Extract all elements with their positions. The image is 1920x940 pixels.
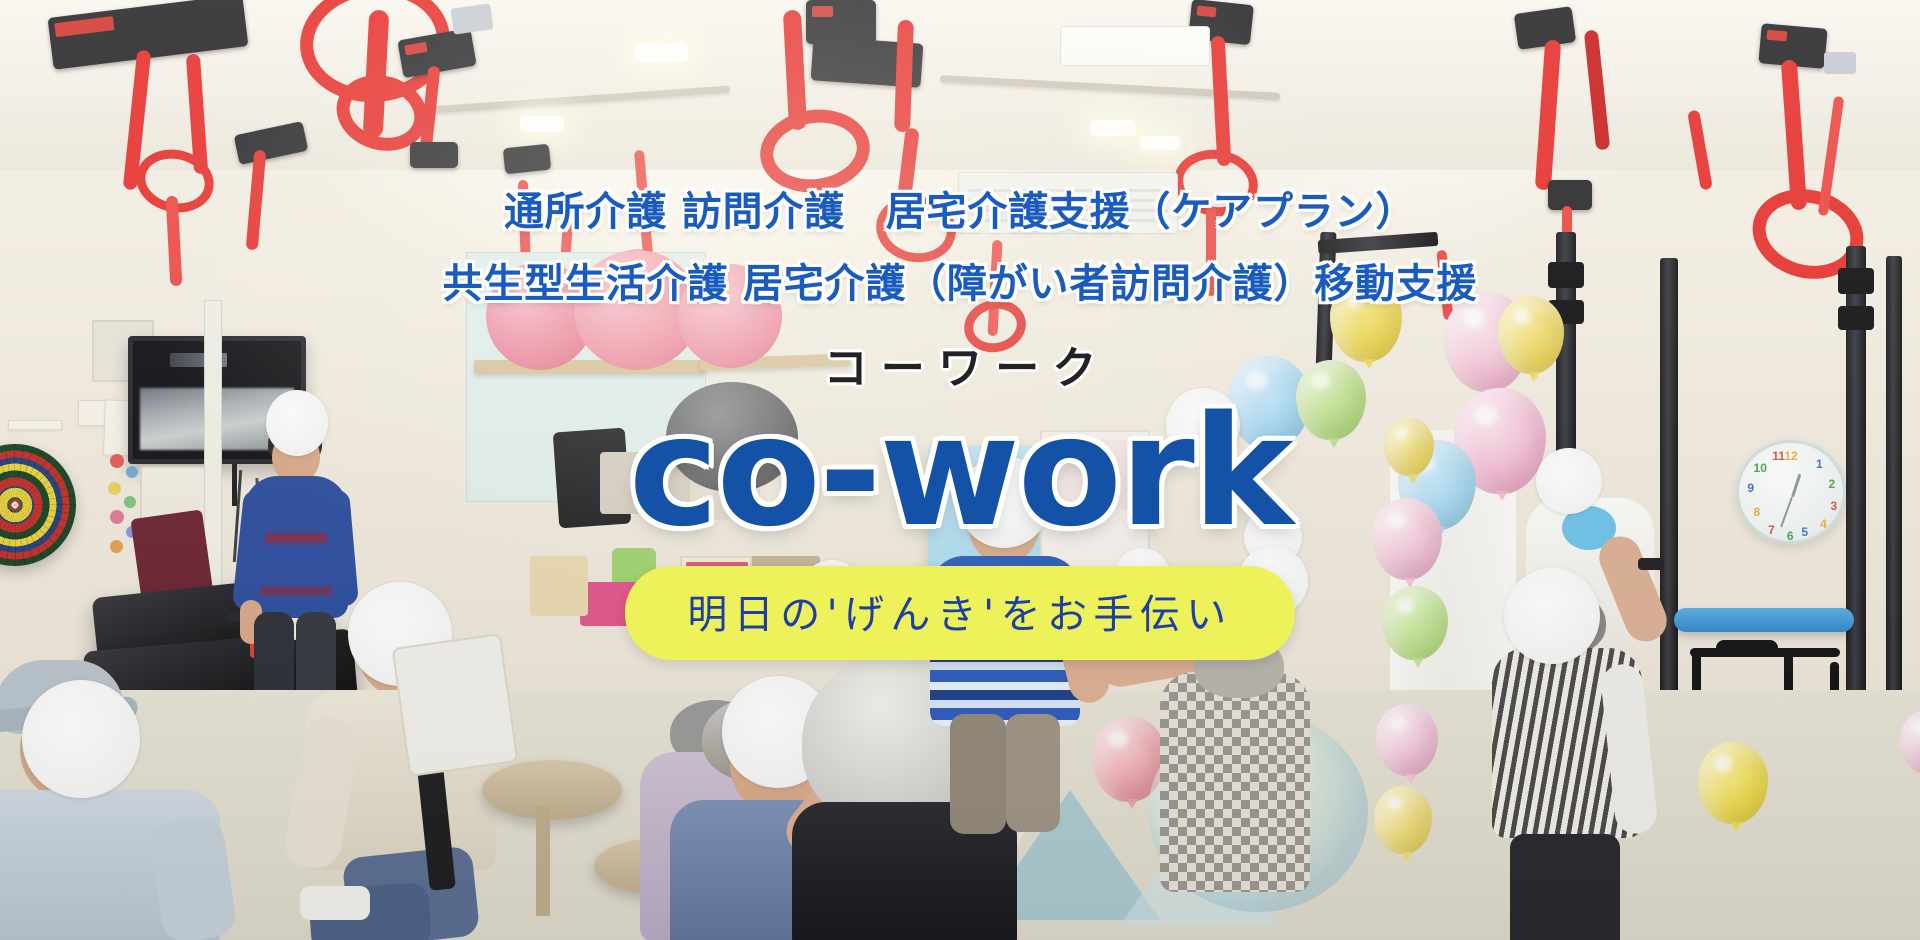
red-strap	[1206, 206, 1216, 296]
carabiner	[1824, 52, 1856, 74]
balloon-yellow	[1384, 418, 1434, 476]
balloon-pink	[1372, 498, 1442, 580]
balloon-pink	[1376, 704, 1438, 776]
shelf	[474, 360, 704, 374]
ceiling-light	[1090, 120, 1136, 136]
carabiner	[450, 3, 493, 34]
client-striped-sweater	[1492, 590, 1682, 940]
balloon-green	[1296, 360, 1366, 440]
balloon-yellow	[1330, 278, 1402, 362]
chair-back	[391, 633, 518, 777]
face-blur	[1166, 388, 1240, 462]
face-blur	[22, 680, 140, 798]
tagline-text: 明日の'げんき'をお手伝い	[687, 582, 1232, 640]
ceiling-light	[636, 44, 688, 62]
face-blur	[1536, 448, 1602, 514]
balloon-yellow	[1498, 296, 1564, 374]
wall-card	[8, 420, 62, 430]
balloon-yellow	[1374, 786, 1432, 854]
exercise-ball	[678, 264, 782, 368]
wall-clock: 12 1 2 3 4 5 6 7 8 9 10 11	[1736, 440, 1846, 544]
hero-banner: 12 1 2 3 4 5 6 7 8 9 10 11	[0, 0, 1920, 940]
blue-foam-bar	[1674, 608, 1854, 632]
pole-clamp	[1838, 268, 1874, 294]
suspension-clamp	[503, 144, 551, 175]
suspension-clamp	[1548, 180, 1592, 210]
air-conditioner	[958, 172, 1178, 234]
air-vent	[1060, 26, 1210, 66]
client-reaching-right	[1098, 616, 1348, 936]
background-photo: 12 1 2 3 4 5 6 7 8 9 10 11	[0, 0, 1920, 940]
tagline-pill[interactable]: 明日の'げんき'をお手伝い	[625, 566, 1294, 660]
ceiling-light	[520, 116, 564, 132]
client-seated-left	[0, 660, 260, 940]
face-blur	[1504, 568, 1600, 664]
face-blur	[266, 390, 328, 456]
balloon-yellow	[1698, 742, 1768, 824]
table-leg	[536, 806, 550, 916]
shoe	[300, 886, 370, 920]
face-blur	[958, 456, 1050, 548]
ceiling-light	[1140, 136, 1180, 150]
pole-clamp	[1548, 262, 1584, 288]
wristwatch	[1638, 558, 1664, 570]
balloon-green	[1382, 586, 1448, 660]
pole-clamp	[1838, 306, 1874, 330]
suspension-clamp	[410, 142, 458, 168]
round-table	[482, 760, 622, 820]
exercise-ball-gray	[666, 382, 798, 492]
